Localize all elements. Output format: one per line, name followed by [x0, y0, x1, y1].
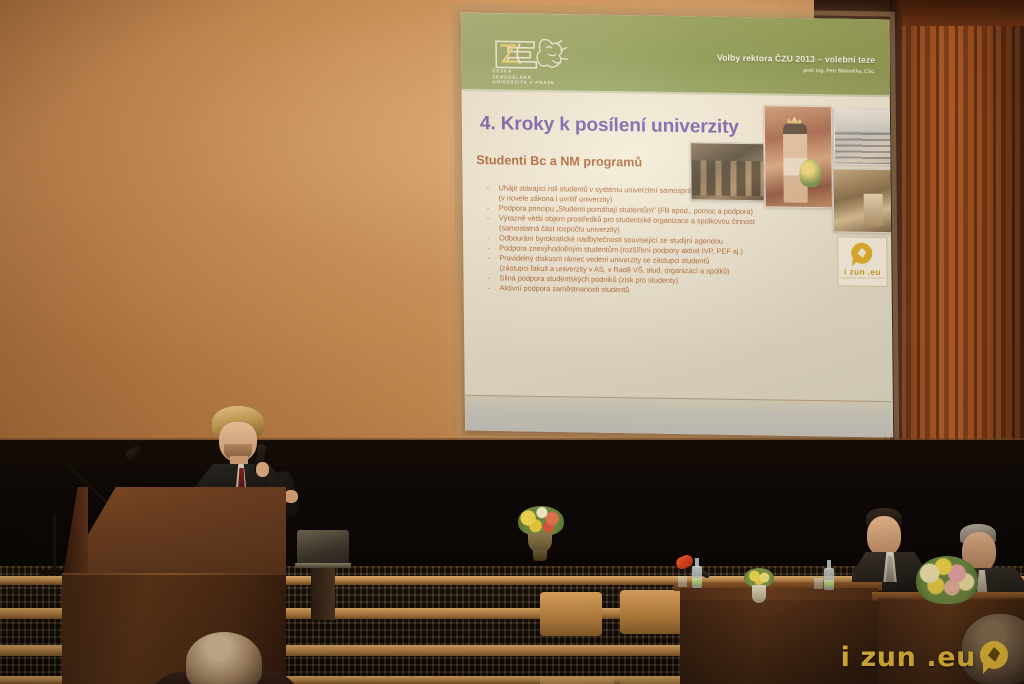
izun-watermark: i zun .eu — [841, 641, 1010, 674]
izun-speech-bubble-logo — [979, 641, 1010, 674]
panelist-head — [867, 516, 901, 556]
flowers — [518, 506, 564, 536]
flower-vase-panel — [742, 568, 776, 606]
presenter-laptop — [295, 530, 351, 568]
photograph-canvas: ČESKÁ ZEMĚDĚLSKÁ UNIVERZITA V PRAZE Volb… — [0, 0, 1024, 684]
curtain-valance — [890, 0, 1024, 26]
bottle-label — [692, 578, 702, 585]
stage-curtain — [898, 0, 1024, 500]
laptop-lid — [297, 530, 349, 564]
projection-screen: ČESKÁ ZEMĚDĚLSKÁ UNIVERZITA V PRAZE Volb… — [453, 6, 900, 447]
flower-bouquet — [916, 556, 978, 604]
vase-body — [752, 585, 766, 603]
laptop-base — [295, 563, 351, 568]
chair-back — [540, 592, 602, 636]
bottle-label — [824, 580, 834, 587]
microphone-head — [124, 445, 143, 462]
audience-head-left — [186, 632, 262, 684]
water-bottle — [692, 558, 702, 588]
water-bottle — [824, 560, 834, 590]
speech-bubble-tail-icon — [983, 664, 992, 674]
microphone-pole — [53, 514, 56, 572]
chair-seat — [540, 678, 614, 684]
screen-frame — [453, 4, 900, 447]
drinking-glass — [678, 576, 687, 587]
speaker-hand — [284, 490, 298, 503]
drinking-glass — [814, 578, 823, 589]
laptop-stand — [311, 568, 335, 620]
flower-vase-center — [516, 506, 564, 562]
speaker-hand — [256, 462, 269, 477]
watermark-text: i zun .eu — [841, 642, 976, 673]
chair-back — [620, 590, 682, 634]
vase-foot — [533, 551, 547, 561]
vase-body — [528, 533, 552, 553]
